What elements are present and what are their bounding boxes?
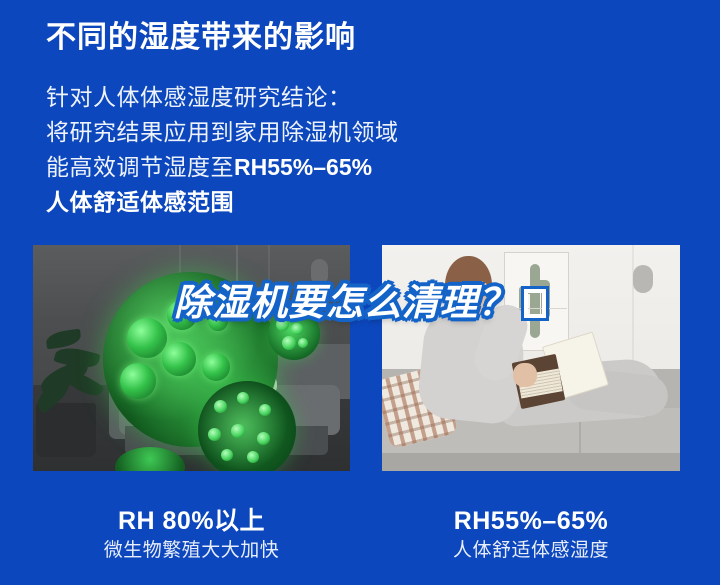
person-hand <box>513 363 537 388</box>
infographic-page: 不同的湿度带来的影响 针对人体体感湿度研究结论： 将研究结果应用到家用除湿机领域… <box>0 0 720 585</box>
caption-right-subtitle: 人体舒适体感湿度 <box>382 537 680 565</box>
virus-spike <box>247 451 259 463</box>
sofa-base <box>382 453 680 471</box>
overlay-title: 除湿机要怎么清理？ <box>0 272 720 326</box>
microbe-blob <box>162 342 196 376</box>
intro-line-2: 将研究结果应用到家用除湿机领域 <box>46 115 399 150</box>
virus-spike <box>231 424 245 438</box>
intro-line-4: 人体舒适体感范围 <box>46 185 399 220</box>
virus-spike <box>237 392 249 404</box>
overlay-title-text: 除湿机要怎么清理？ <box>174 282 516 323</box>
page-title: 不同的湿度带来的影响 <box>46 18 356 58</box>
microbe-blob <box>120 363 156 399</box>
caption-left: RH 80%以上 微生物繁殖大大加快 <box>33 505 350 565</box>
microbe-blob <box>202 353 230 381</box>
virus-spike <box>208 428 221 441</box>
intro-line-3-prefix: 能高效调节湿度至 <box>46 154 234 180</box>
virus-spike <box>259 404 271 416</box>
caption-left-subtitle: 微生物繁殖大大加快 <box>33 537 350 565</box>
microbe-dot <box>282 336 296 350</box>
intro-line-3-emphasis: RH55%–65% <box>234 154 372 180</box>
intro-paragraph: 针对人体体感湿度研究结论： 将研究结果应用到家用除湿机领域 能高效调节湿度至RH… <box>46 80 399 220</box>
caption-right-title: RH55%–65% <box>382 505 680 537</box>
virus-spike <box>221 449 233 461</box>
virus-sphere <box>198 381 296 471</box>
missing-character-box-icon <box>524 289 546 318</box>
caption-left-title: RH 80%以上 <box>33 505 350 537</box>
intro-line-1: 针对人体体感湿度研究结论： <box>46 80 399 115</box>
caption-right: RH55%–65% 人体舒适体感湿度 <box>382 505 680 565</box>
virus-spike <box>257 432 270 445</box>
microbe-dot <box>298 338 308 348</box>
virus-spike <box>214 400 227 413</box>
intro-line-3: 能高效调节湿度至RH55%–65% <box>46 150 399 185</box>
